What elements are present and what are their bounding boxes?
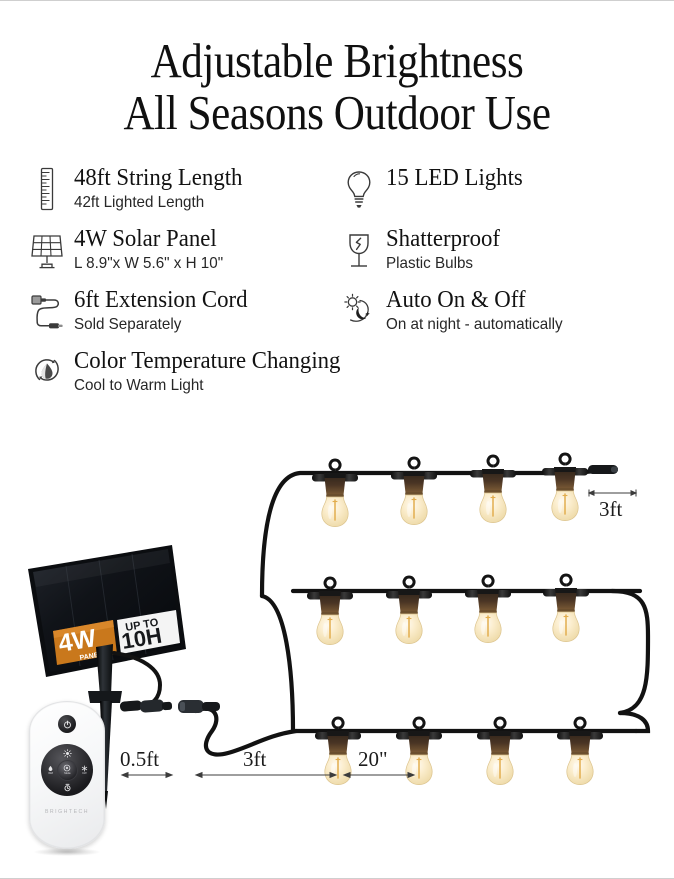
remote-warm-button[interactable]: WM [43,763,57,777]
title-line-2: All Seasons Outdoor Use [40,87,633,139]
color-temperature-droplet-icon [26,347,68,397]
remote-cool-button[interactable]: CW [77,763,91,777]
dimension-label-cord-to-first-bulb: 3ft [243,747,266,772]
extension-cord-icon [26,286,68,336]
dimension-label-bulb-spacing: 20" [358,747,388,772]
bulb [465,576,511,643]
feature-text: 48ft String Length 42ft Lighted Length [68,164,251,213]
timer-icon [63,783,72,792]
bulb [470,456,516,523]
feature-subtitle: Sold Separately [74,315,248,335]
feature-text: Auto On & Off On at night - automaticall… [380,286,572,335]
bulb [477,718,523,785]
bulb [542,454,588,521]
feature-title: 48ft String Length [74,166,242,192]
feature-list: 48ft String Length 42ft Lighted Length [26,164,650,408]
feature-title: 6ft Extension Cord [74,288,248,314]
feature-subtitle: On at night - automatically [386,315,563,335]
remote-button-pad: WM CW [41,744,93,796]
feature-subtitle: 42ft Lighted Length [74,193,242,213]
bulb-row-top [312,454,588,527]
title-line-1: Adjustable Brightness [40,35,633,87]
sun-bright-icon [63,749,72,758]
feature-text: Shatterproof Plastic Bulbs [380,225,506,274]
light-bulb-icon [338,164,380,214]
remote-timer-button[interactable] [60,780,74,794]
feature-title: Auto On & Off [386,288,563,314]
page-title: Adjustable Brightness All Seasons Outdoo… [0,35,674,139]
power-icon [63,720,72,729]
dimension-label-tail: 3ft [599,497,622,522]
bulb [312,460,358,527]
bulb-row-middle [307,575,589,645]
ruler-icon [26,164,68,214]
feature-text: 6ft Extension Cord Sold Separately [68,286,257,335]
bulb [386,577,432,644]
sun-moon-auto-icon [338,286,380,336]
remote-control: WM CW [29,701,105,849]
remote-cool-label: CW [82,772,86,775]
bulb [543,575,589,642]
tail-connector [588,465,618,474]
feature-subtitle: Plastic Bulbs [386,254,500,274]
feature-row: 48ft String Length 42ft Lighted Length [26,164,650,214]
feature-extension-cord: 6ft Extension Cord Sold Separately [26,286,338,336]
feature-row: 4W Solar Panel L 8.9"x W 5.6" x H 10" Sh… [26,225,650,275]
feature-subtitle: Cool to Warm Light [74,376,340,396]
feature-title: Color Temperature Changing [74,349,340,375]
feature-title: 4W Solar Panel [74,227,223,253]
feature-row: 6ft Extension Cord Sold Separately [26,286,650,336]
remote-mode-label: Mode [64,772,70,775]
bulb [557,718,603,785]
feature-string-length: 48ft String Length 42ft Lighted Length [26,164,338,214]
feature-led-count: 15 LED Lights [338,164,650,214]
remote-brand-label: BRIGHTECH [29,809,105,815]
product-infographic: Adjustable Brightness All Seasons Outdoo… [0,0,674,879]
feature-subtitle: L 8.9"x W 5.6" x H 10" [74,254,223,274]
feature-text: 15 LED Lights [380,164,530,193]
feature-title: Shatterproof [386,227,500,253]
remote-warm-label: WM [48,772,53,775]
remote-mode-button[interactable]: Mode [57,760,78,781]
remote-power-button[interactable] [58,715,76,733]
dimension-label-panel-to-cord: 0.5ft [120,747,159,772]
feature-row: Color Temperature Changing Cool to Warm … [26,347,650,397]
bulb [391,458,437,525]
feature-text: 4W Solar Panel L 8.9"x W 5.6" x H 10" [68,225,231,274]
feature-title: 15 LED Lights [386,166,523,192]
solar-panel-icon [26,225,68,275]
remote-shadow [33,848,101,856]
shatterproof-glass-icon [338,225,380,275]
panel-cord-connector [120,699,173,713]
feature-auto-on-off: Auto On & Off On at night - automaticall… [338,286,650,336]
bulb [307,578,353,645]
feature-shatterproof: Shatterproof Plastic Bulbs [338,225,650,275]
feature-solar-panel: 4W Solar Panel L 8.9"x W 5.6" x H 10" [26,225,338,275]
feature-text: Color Temperature Changing Cool to Warm … [68,347,354,396]
remote-brightness-up-button[interactable] [60,746,74,760]
feature-color-temperature: Color Temperature Changing Cool to Warm … [26,347,650,397]
